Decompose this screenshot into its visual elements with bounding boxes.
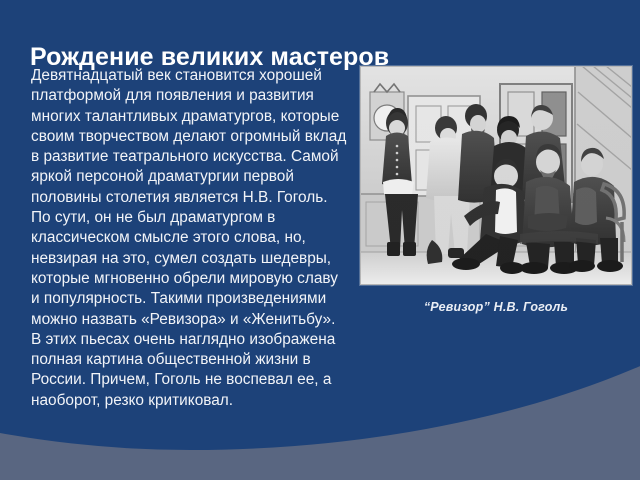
illustration-svg xyxy=(360,66,632,285)
presentation-slide: Рождение великих мастеров Девятнадцатый … xyxy=(0,0,640,480)
slide-body-text: Девятнадцатый век становится хорошей пла… xyxy=(31,66,349,411)
image-caption: “Ревизор” Н.В. Гоголь xyxy=(360,300,632,314)
slide-content: Рождение великих мастеров Девятнадцатый … xyxy=(0,0,640,480)
illustration-image xyxy=(360,66,632,285)
